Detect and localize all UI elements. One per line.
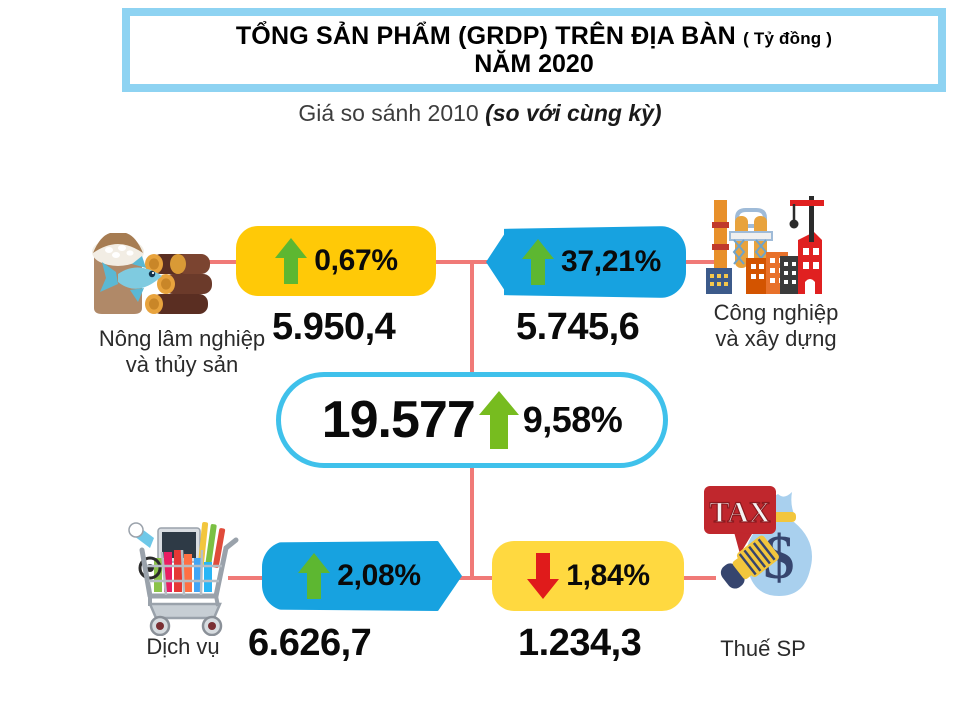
- industry-label-line2: và xây dựng: [696, 326, 856, 352]
- grdp-total-percent: 9,58%: [523, 399, 623, 441]
- tax-label-line1: Thuế SP: [700, 636, 826, 662]
- services-percent-tag: 2,08%: [262, 541, 462, 611]
- services-label-line1: Dịch vụ: [118, 634, 248, 660]
- agriculture-label-line1: Nông lâm nghiệp: [82, 326, 282, 352]
- title-unit-text: ( Tỷ đồng ): [743, 29, 832, 48]
- title-year: NĂM 2020: [474, 50, 594, 78]
- subtitle-note: (so với cùng kỳ): [485, 100, 661, 126]
- industry-percent-tag: 37,21%: [486, 226, 686, 298]
- tax-percent-label: 1,84%: [566, 559, 650, 593]
- tax-percent-tag: 1,84%: [492, 541, 684, 611]
- agriculture-percent-label: 0,67%: [314, 244, 398, 278]
- tax-label: Thuế SP: [700, 636, 826, 662]
- industry-construction-icon: [704, 192, 826, 310]
- industry-label-line1: Công nghiệp: [696, 300, 856, 326]
- industry-label: Công nghiệp và xây dựng: [696, 300, 856, 352]
- industry-percent-label: 37,21%: [561, 245, 661, 279]
- arrow-up-icon: [297, 551, 331, 601]
- grdp-total-box: 19.577 9,58%: [276, 372, 668, 468]
- services-value: 6.626,7: [248, 622, 371, 665]
- title-box: TỔNG SẢN PHẨM (GRDP) TRÊN ĐỊA BÀN ( Tỷ đ…: [122, 8, 946, 92]
- subtitle-main: Giá so sánh 2010: [298, 100, 478, 126]
- arrow-up-icon: [477, 389, 521, 451]
- shopping-cart-services-icon: [124, 500, 256, 636]
- arrow-up-icon: [521, 237, 555, 287]
- agriculture-value: 5.950,4: [272, 306, 395, 349]
- agriculture-percent-tag: 0,67%: [236, 226, 436, 296]
- industry-value: 5.745,6: [516, 306, 639, 349]
- services-percent-label: 2,08%: [337, 559, 421, 593]
- arrow-down-icon: [526, 551, 560, 601]
- arrow-up-icon: [274, 236, 308, 286]
- agriculture-forestry-fishery-icon: [72, 212, 222, 322]
- tax-value: 1.234,3: [518, 622, 641, 665]
- connector-bottom-vertical: [470, 466, 474, 578]
- svg-text:TAX: TAX: [709, 496, 770, 529]
- grdp-total-value: 19.577: [322, 390, 475, 450]
- infographic-page: TỔNG SẢN PHẨM (GRDP) TRÊN ĐỊA BÀN ( Tỷ đ…: [0, 0, 960, 720]
- agriculture-label-line2: và thủy sản: [82, 352, 282, 378]
- connector-top-vertical: [470, 260, 474, 375]
- page-title: TỔNG SẢN PHẨM (GRDP) TRÊN ĐỊA BÀN ( Tỷ đ…: [236, 22, 832, 50]
- services-label: Dịch vụ: [118, 634, 248, 660]
- title-main-text: TỔNG SẢN PHẨM (GRDP) TRÊN ĐỊA BÀN: [236, 22, 736, 50]
- agriculture-label: Nông lâm nghiệp và thủy sản: [82, 326, 282, 378]
- tax-money-bag-icon: $ TAX: [694, 478, 824, 608]
- subtitle: Giá so sánh 2010 (so với cùng kỳ): [0, 100, 960, 127]
